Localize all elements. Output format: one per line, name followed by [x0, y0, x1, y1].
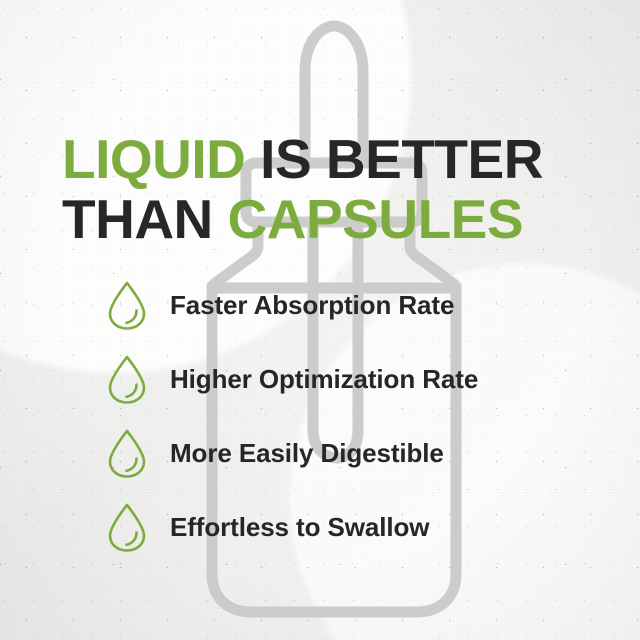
benefit-label: Effortless to Swallow: [170, 512, 429, 543]
water-drop-icon: [104, 279, 150, 331]
benefit-label: Higher Optimization Rate: [170, 364, 478, 395]
benefits-list: Faster Absorption Rate Higher Optimizati…: [104, 276, 584, 556]
headline-phrase-is-better: IS BETTER: [245, 128, 543, 190]
benefit-label: More Easily Digestible: [170, 438, 444, 469]
headline-word-capsules: CAPSULES: [228, 188, 524, 250]
benefit-item-more-easily-digestible: More Easily Digestible: [104, 424, 584, 482]
benefit-item-higher-optimization: Higher Optimization Rate: [104, 350, 584, 408]
benefit-item-faster-absorption: Faster Absorption Rate: [104, 276, 584, 334]
benefit-label: Faster Absorption Rate: [170, 290, 454, 321]
headline-word-than: THAN: [62, 188, 228, 250]
water-drop-icon: [104, 501, 150, 553]
headline-line-2: THAN CAPSULES: [62, 189, 586, 249]
headline-word-liquid: LIQUID: [62, 128, 245, 190]
headline: LIQUID IS BETTER THAN CAPSULES: [62, 129, 586, 249]
promo-graphic: LIQUID IS BETTER THAN CAPSULES Faster Ab…: [0, 0, 640, 640]
water-drop-icon: [104, 427, 150, 479]
headline-line-1: LIQUID IS BETTER: [62, 129, 586, 189]
benefit-item-effortless-to-swallow: Effortless to Swallow: [104, 498, 584, 556]
water-drop-icon: [104, 353, 150, 405]
